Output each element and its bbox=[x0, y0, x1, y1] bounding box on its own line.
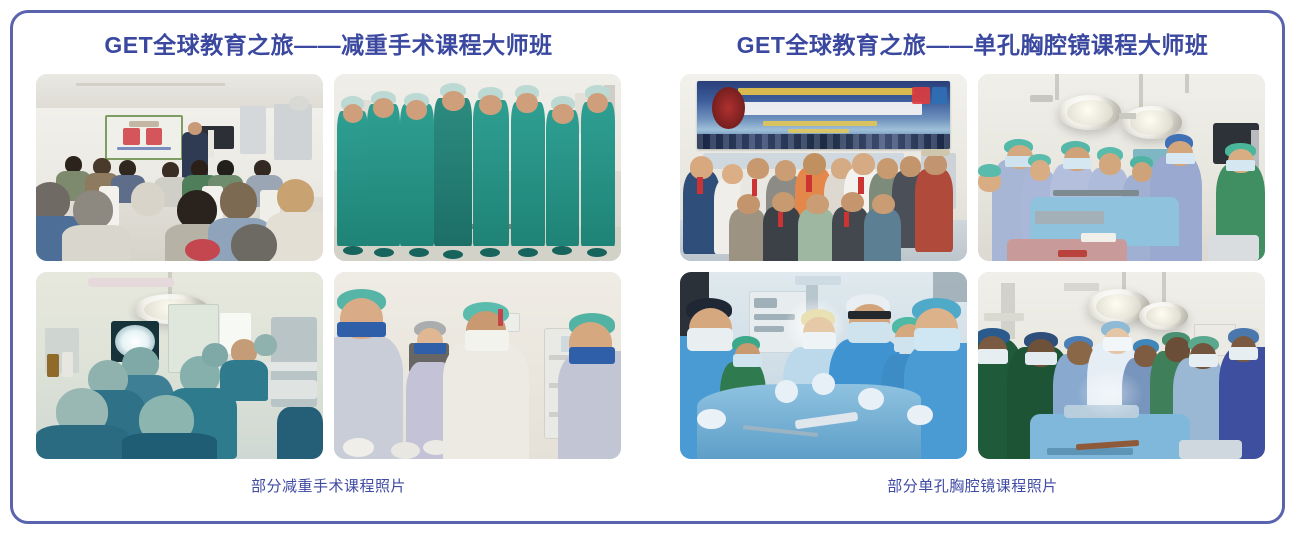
poster-content: GET全球教育之旅——减重手术课程大师班 bbox=[0, 0, 1301, 540]
photo-lecture-hall-audience bbox=[36, 74, 323, 261]
caption-right: 部分单孔胸腔镜课程照片 bbox=[887, 475, 1058, 496]
photo-green-scrub-team-group bbox=[334, 74, 621, 261]
photo-operating-room-wide-teal bbox=[36, 272, 323, 459]
photo-grid-left bbox=[36, 74, 621, 459]
photo-workshop-banner-group bbox=[680, 74, 967, 261]
photo-grid-right bbox=[680, 74, 1265, 459]
panel-title-right: GET全球教育之旅——单孔胸腔镜课程大师班 bbox=[737, 30, 1209, 60]
panel-bariatric-surgery: GET全球教育之旅——减重手术课程大师班 bbox=[35, 30, 622, 540]
photo-operating-theatre-lights-team bbox=[978, 74, 1265, 261]
photo-operating-theatre-crowded bbox=[978, 272, 1265, 459]
caption-left: 部分减重手术课程照片 bbox=[251, 475, 406, 496]
panel-uniportal-vats: GET全球教育之旅——单孔胸腔镜课程大师班 bbox=[679, 30, 1266, 540]
panel-title-left: GET全球教育之旅——减重手术课程大师班 bbox=[104, 30, 552, 60]
photo-masked-surgeons-portrait bbox=[334, 272, 621, 459]
photo-blue-gown-team-thumbs-up bbox=[680, 272, 967, 459]
